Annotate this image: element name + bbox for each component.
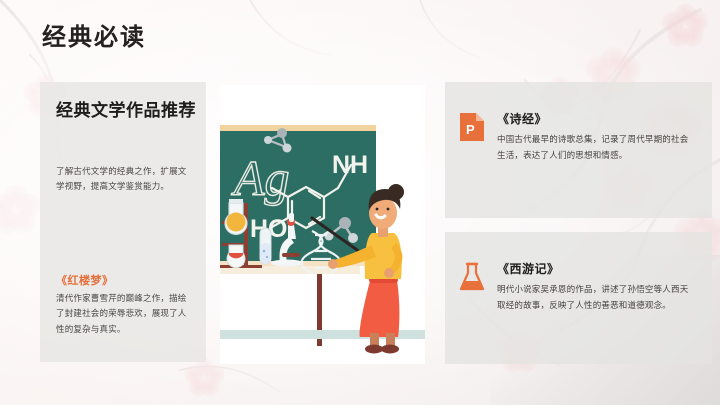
left-panel-book-title: 《红楼梦》 [56, 272, 196, 288]
left-panel-body: 了解古代文学的经典之作，扩展文学视野，提高文学鉴赏能力。 [56, 164, 192, 194]
book-card-shijing[interactable]: P 《诗经》 中国古代最早的诗歌总集，记录了周代早期的社会生活，表达了人们的思想… [445, 82, 712, 218]
teacher-chalkboard-illustration-art: Ag NH HO [220, 85, 425, 364]
left-panel-book-description: 清代作家曹雪芹的巅峰之作，描绘了封建社会的荣辱悲欢，展现了人性的复杂与真实。 [56, 291, 194, 337]
book-card-body: 明代小说家吴承恩的作品，讲述了孙悟空等人西天取经的故事，反映了人性的善恶和道德观… [497, 282, 697, 313]
hair-bun [388, 184, 404, 200]
page-title: 经典必读 [42, 26, 146, 50]
test-tube [260, 228, 271, 264]
book-card-title: 《诗经》 [497, 110, 547, 127]
flask-icon [459, 262, 485, 292]
chalkboard-frame-top [220, 125, 376, 131]
book-card-title: 《西游记》 [497, 260, 560, 277]
left-info-panel: 经典文学作品推荐 了解古代文学的经典之作，扩展文学视野，提高文学鉴赏能力。 《红… [40, 82, 206, 362]
book-card-body: 中国古代最早的诗歌总集，记录了周代早期的社会生活，表达了人们的思想和情感。 [497, 132, 697, 163]
slide-root: 经典必读 经典文学作品推荐 了解古代文学的经典之作，扩展文学视野，提高文学鉴赏能… [0, 0, 720, 405]
chalk-text-ag: Ag [231, 150, 290, 206]
powerpoint-icon-letter: P [466, 122, 475, 137]
book-card-xiyouji[interactable]: 《西游记》 明代小说家吴承恩的作品，讲述了孙悟空等人西天取经的故事，反映了人性的… [445, 232, 712, 364]
classroom-illustration: Ag NH HO [220, 85, 425, 364]
powerpoint-file-icon: P [459, 112, 485, 142]
left-panel-heading: 经典文学作品推荐 [56, 100, 196, 123]
